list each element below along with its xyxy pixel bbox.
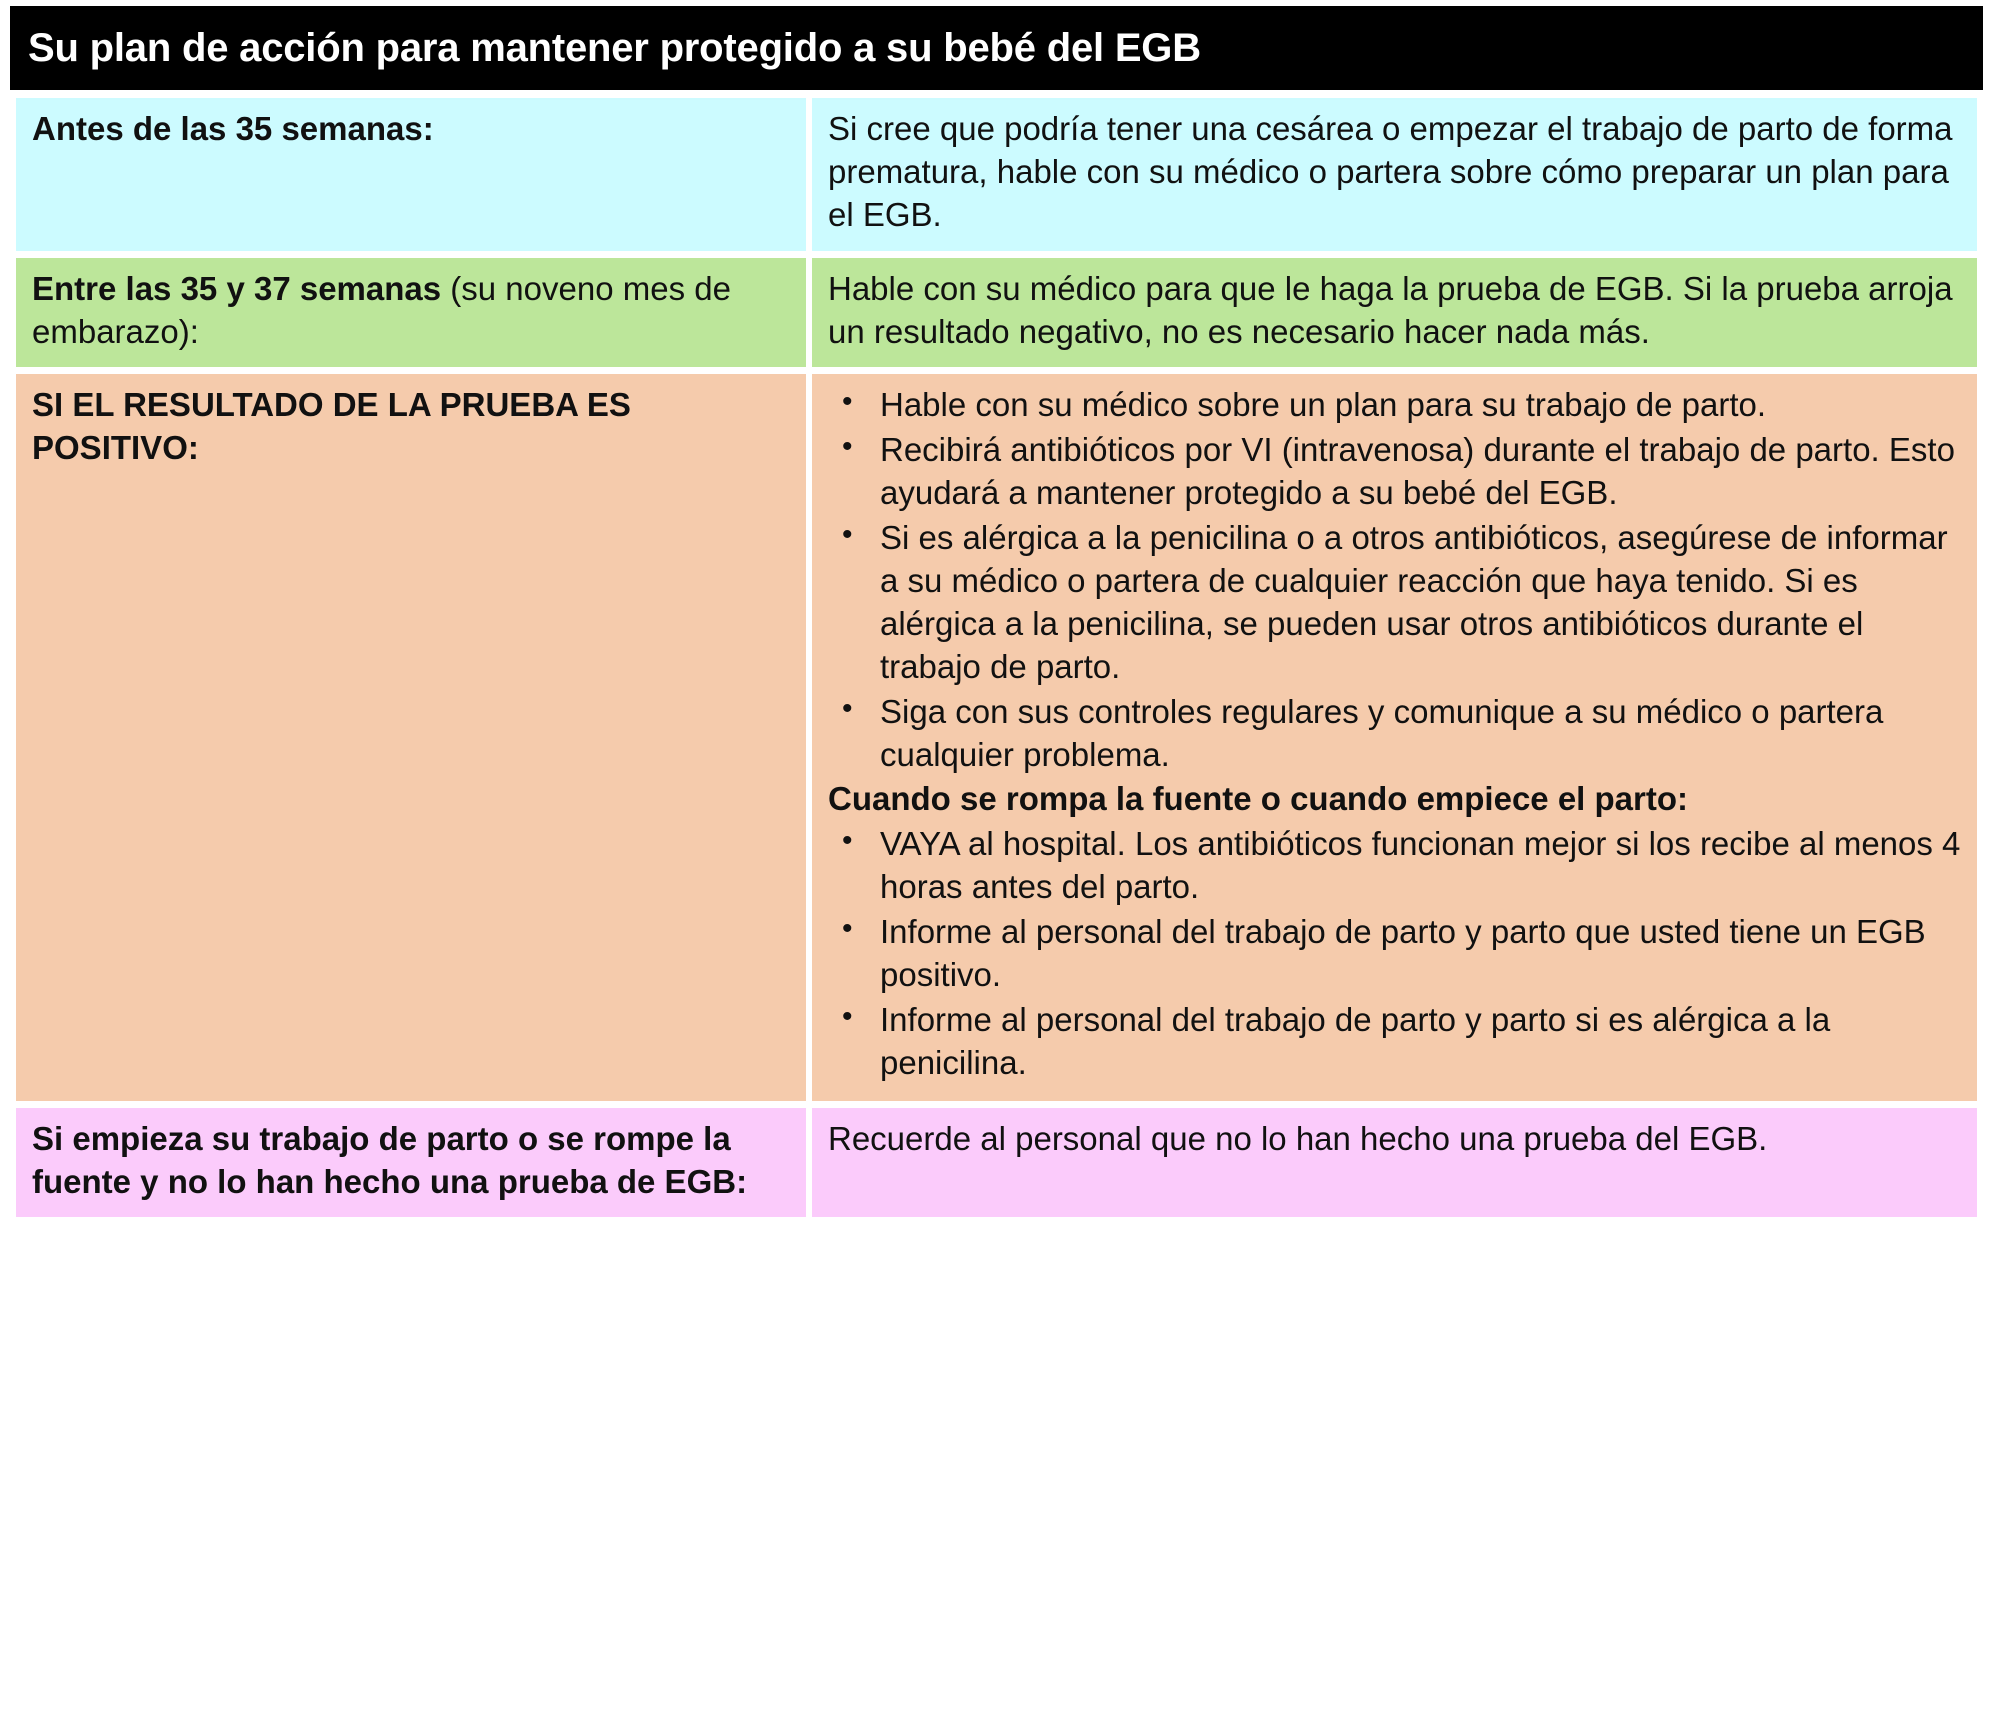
row-label-bold-text: Si empieza su trabajo de parto o se romp…: [32, 1120, 747, 1200]
row-body-between-35-and-37-weeks: Hable con su médico para que le haga la …: [812, 258, 1977, 368]
list-item: VAYA al hospital. Los antibióticos funci…: [880, 823, 1961, 909]
table-row: Antes de las 35 semanas: Si cree que pod…: [16, 98, 1977, 251]
row-label-bold-text: Antes de las 35 semanas:: [32, 110, 434, 147]
row-body-before-35-weeks: Si cree que podría tener una cesárea o e…: [812, 98, 1977, 251]
list-item: Hable con su médico sobre un plan para s…: [880, 384, 1961, 427]
row-body-labor-starts-without-test: Recuerde al personal que no lo han hecho…: [812, 1108, 1977, 1218]
bullet-list-top: Hable con su médico sobre un plan para s…: [828, 384, 1961, 776]
table-row: Entre las 35 y 37 semanas (su noveno mes…: [16, 258, 1977, 368]
row-label-between-35-and-37-weeks: Entre las 35 y 37 semanas (su noveno mes…: [16, 258, 806, 368]
table-row: Si empieza su trabajo de parto o se romp…: [16, 1108, 1977, 1218]
row-label-positive-test-result: SI EL RESULTADO DE LA PRUEBA ES POSITIVO…: [16, 374, 806, 1100]
bullet-list-bottom: VAYA al hospital. Los antibióticos funci…: [828, 823, 1961, 1084]
page-title: Su plan de acción para mantener protegid…: [10, 6, 1983, 90]
list-item: Informe al personal del trabajo de parto…: [880, 911, 1961, 997]
list-item: Informe al personal del trabajo de parto…: [880, 999, 1961, 1085]
document-sheet: Su plan de acción para mantener protegid…: [0, 0, 1991, 1727]
row-label-before-35-weeks: Antes de las 35 semanas:: [16, 98, 806, 251]
action-plan-table: Antes de las 35 semanas: Si cree que pod…: [10, 91, 1983, 1224]
list-item: Si es alérgica a la penicilina o a otros…: [880, 517, 1961, 689]
bullet-list-subheading: Cuando se rompa la fuente o cuando empie…: [828, 778, 1961, 821]
row-label-bold-text: SI EL RESULTADO DE LA PRUEBA ES POSITIVO…: [32, 386, 631, 466]
row-body-text: Si cree que podría tener una cesárea o e…: [828, 108, 1961, 237]
row-label-bold-text: Entre las 35 y 37 semanas: [32, 270, 441, 307]
row-body-text: Hable con su médico para que le haga la …: [828, 268, 1961, 354]
row-body-text: Recuerde al personal que no lo han hecho…: [828, 1118, 1961, 1161]
row-body-positive-test-result: Hable con su médico sobre un plan para s…: [812, 374, 1977, 1100]
list-item: Siga con sus controles regulares y comun…: [880, 691, 1961, 777]
table-row: SI EL RESULTADO DE LA PRUEBA ES POSITIVO…: [16, 374, 1977, 1100]
list-item: Recibirá antibióticos por VI (intravenos…: [880, 429, 1961, 515]
row-label-labor-starts-without-test: Si empieza su trabajo de parto o se romp…: [16, 1108, 806, 1218]
